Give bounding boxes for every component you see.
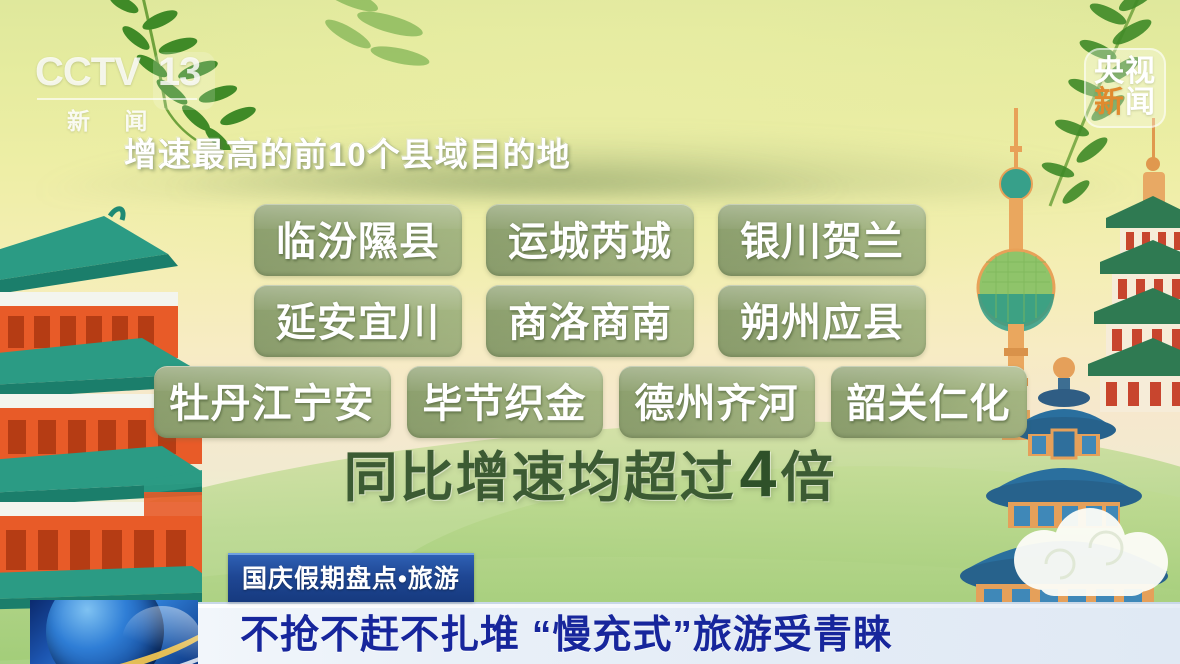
cctv13-watermark: CCTV13 新 闻: [35, 52, 215, 117]
destination-tag: 延安宜川: [254, 285, 462, 357]
growth-summary-suffix: 倍: [780, 448, 836, 508]
destination-tag: 商洛商南: [486, 285, 694, 357]
cctv-news-logo-char-xin: 新: [1094, 86, 1125, 119]
cctv-news-logo-line2: 新闻: [1094, 88, 1156, 119]
destination-tag-label: 毕节织金: [423, 382, 587, 426]
growth-summary-number: 4: [736, 436, 781, 510]
destination-tag: 毕节织金: [407, 366, 603, 438]
topic-tag: 国庆假期盘点•旅游: [228, 553, 474, 602]
destination-tag: 朔州应县: [718, 285, 926, 357]
tag-row-2: 延安宜川 商洛商南 朔州应县: [0, 285, 1180, 357]
tag-row-3: 牡丹江宁安 毕节织金 德州齐河 韶关仁化: [0, 366, 1180, 438]
growth-summary: 同比增速均超过4倍: [0, 433, 1180, 512]
lower-third: 国庆假期盘点•旅游 不抢不赶不扎堆 “慢充式”旅游受青睐: [0, 594, 1180, 664]
cctv-number: 13: [140, 50, 201, 94]
destination-tag: 德州齐河: [619, 366, 815, 438]
destination-tag-label: 商洛商南: [508, 301, 672, 345]
destination-tag: 临汾隰县: [254, 204, 462, 276]
destination-tag-groups: 临汾隰县 运城芮城 银川贺兰 延安宜川 商洛商南 朔州应县 牡丹江宁安: [0, 204, 1180, 447]
destination-tag-label: 银川贺兰: [740, 220, 904, 264]
destination-tag-label: 牡丹江宁安: [170, 382, 375, 426]
topic-tag-label: 国庆假期盘点•旅游: [242, 565, 460, 593]
cctv-news-logo-line1: 央视: [1094, 57, 1156, 88]
cctv13-text: CCTV13: [35, 50, 200, 95]
destination-tag-label: 运城芮城: [508, 220, 672, 264]
station-globe-thumbnail: [30, 600, 198, 664]
globe-highlight: [122, 606, 198, 664]
tag-row-1: 临汾隰县 运城芮城 银川贺兰: [0, 204, 1180, 276]
cctv-news-logo: 央视 新闻: [1084, 48, 1166, 128]
growth-summary-prefix: 同比增速均超过: [344, 448, 736, 508]
destination-tag: 韶关仁化: [831, 366, 1027, 438]
cctv-news-logo-char-wen: 闻: [1125, 86, 1156, 119]
cctv13-underline: [37, 98, 197, 100]
destination-tag: 银川贺兰: [718, 204, 926, 276]
destination-tag: 牡丹江宁安: [154, 366, 391, 438]
destination-tag-label: 延安宜川: [276, 301, 440, 345]
destination-tag-label: 韶关仁化: [847, 382, 1011, 426]
destination-tag-label: 临汾隰县: [276, 220, 440, 264]
destination-tag-label: 朔州应县: [740, 301, 904, 345]
destination-tag-label: 德州齐河: [635, 382, 799, 426]
cctv-label: CCTV: [35, 50, 140, 94]
broadcast-screenshot: CCTV13 新 闻 央视 新闻 增速最高的前10个县域目的地 临汾隰县 运城芮…: [0, 0, 1180, 664]
destination-tag: 运城芮城: [486, 204, 694, 276]
news-headline: 不抢不赶不扎堆 “慢充式”旅游受青睐: [240, 604, 893, 660]
infographic-heading: 增速最高的前10个县域目的地: [124, 128, 571, 176]
